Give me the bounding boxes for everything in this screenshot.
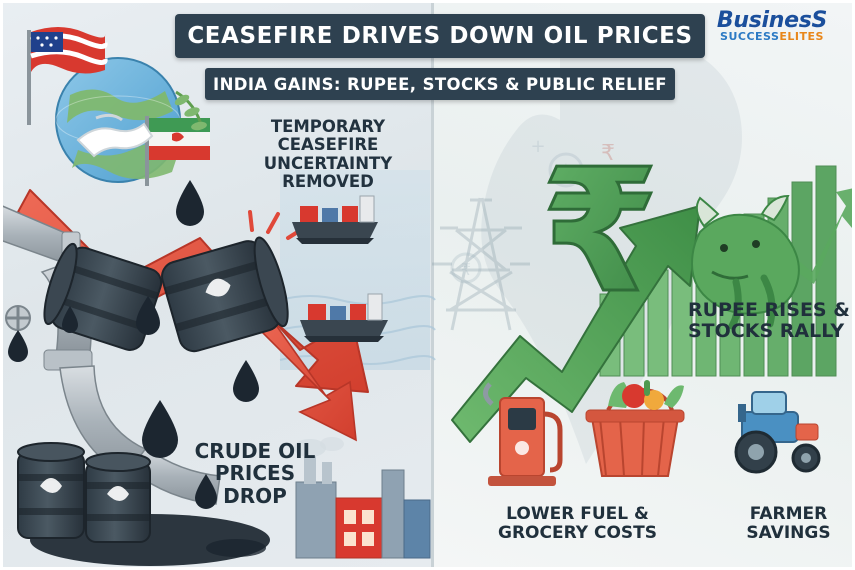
logo-elites-text: ELITES (779, 30, 824, 43)
lower-fuel-label: LOWER FUEL & GROCERY COSTS (460, 505, 695, 543)
subheadline-banner: INDIA GAINS: RUPEE, STOCKS & PUBLIC RELI… (205, 68, 675, 100)
logo-success-text: SUCCESS (720, 30, 779, 43)
headline-banner: CEASEFIRE DRIVES DOWN OIL PRICES (175, 14, 705, 58)
rupee-rises-label: RUPEE RISES & STOCKS RALLY (688, 300, 855, 343)
crude-oil-label: CRUDE OIL PRICES DROP (180, 440, 330, 507)
infographic-image: $ ₹ ₹ + ₹ (0, 0, 855, 570)
brand-logo: BusinesS SUCCESSELITES (697, 8, 847, 52)
ceasefire-label: TEMPORARY CEASEFIRE UNCERTAINTY REMOVED (228, 118, 428, 192)
headline-text: CEASEFIRE DRIVES DOWN OIL PRICES (187, 23, 692, 49)
subheadline-text: INDIA GAINS: RUPEE, STOCKS & PUBLIC RELI… (213, 75, 667, 94)
farmer-savings-label: FARMER SAVINGS (726, 505, 851, 543)
